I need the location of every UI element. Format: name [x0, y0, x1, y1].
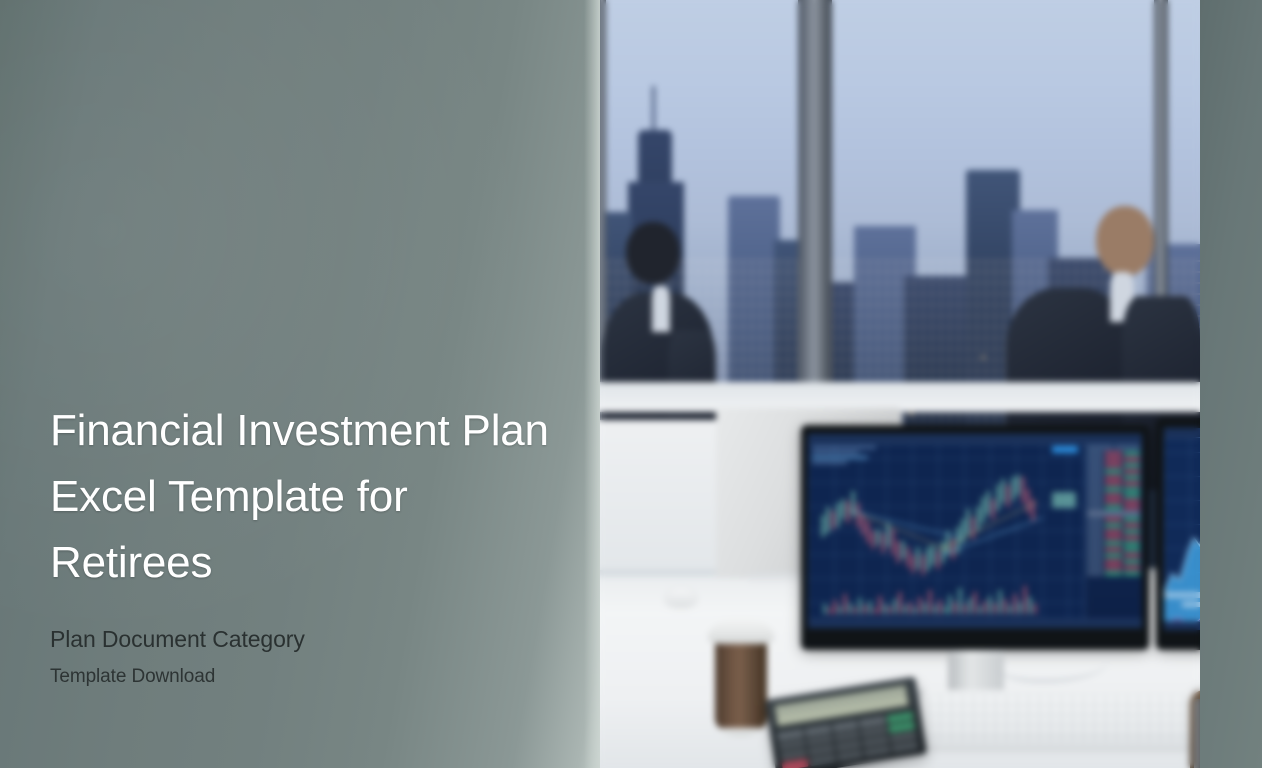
volume-histogram: [818, 570, 1080, 614]
terminal-status-bar: [808, 619, 1142, 628]
text-block: Financial Investment Plan Excel Template…: [50, 398, 580, 689]
terminal-action-button[interactable]: [1052, 446, 1078, 453]
slide-canvas: Financial Investment Plan Excel Template…: [0, 0, 1262, 768]
coffee-cup[interactable]: [708, 618, 774, 734]
secondary-screen: [1164, 428, 1200, 630]
coffee-cup-lid: [708, 618, 774, 644]
area-chart: [1164, 428, 1200, 630]
page-title: Financial Investment Plan Excel Template…: [50, 398, 580, 596]
secondary-monitor[interactable]: [1156, 418, 1200, 650]
desk-left-surface: [598, 420, 718, 570]
price-highlight: [1052, 492, 1076, 508]
trading-screen: [808, 434, 1142, 628]
keyboard[interactable]: [924, 690, 1192, 748]
trading-monitor-stand: [948, 650, 1004, 694]
mouse[interactable]: [666, 588, 696, 606]
order-book-panel[interactable]: [1084, 444, 1142, 628]
subtitle: Plan Document Category: [50, 624, 580, 654]
meta-label: Template Download: [50, 664, 580, 689]
wall-edge-highlight: [584, 0, 600, 768]
right-color-band: [1200, 0, 1262, 768]
coffee-cup-sleeve: [715, 640, 767, 734]
keyboard-keys: [929, 694, 1187, 743]
office-chair[interactable]: [1190, 690, 1200, 768]
terminal-toolbar[interactable]: [808, 434, 1142, 444]
trading-monitor[interactable]: [801, 425, 1149, 650]
hero-photo: [598, 0, 1200, 768]
